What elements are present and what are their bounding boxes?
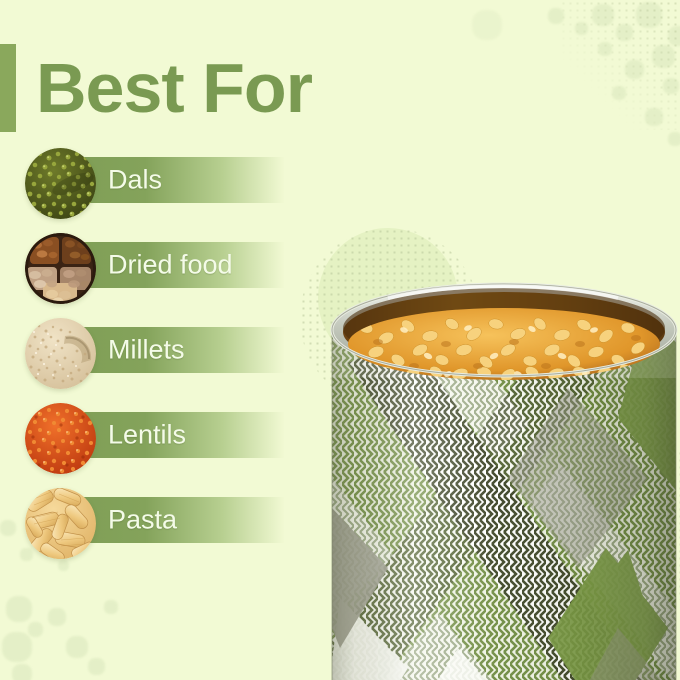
list-item[interactable]: Millets <box>0 315 330 400</box>
millets-icon <box>25 318 96 389</box>
list-item-label: Millets <box>108 335 185 366</box>
soft-blob <box>48 608 66 626</box>
soft-blob <box>6 596 32 622</box>
soft-blob <box>592 4 614 26</box>
lentils-icon <box>25 403 96 474</box>
soft-blob <box>104 600 118 614</box>
soft-blob <box>548 8 564 24</box>
list-item-label: Pasta <box>108 505 177 536</box>
list-item[interactable]: Dried food <box>0 230 330 315</box>
soft-blob <box>625 60 644 79</box>
soft-blob <box>668 26 680 46</box>
soft-blob <box>575 22 588 35</box>
soft-blob <box>663 78 679 94</box>
soft-blob <box>66 636 88 658</box>
soft-blob <box>2 632 32 662</box>
soft-blob <box>612 86 626 100</box>
soft-blob <box>636 2 662 28</box>
best-for-poster: Best For Dals <box>0 0 680 680</box>
list-item-label: Lentils <box>108 420 186 451</box>
soft-blob <box>645 108 663 126</box>
soft-blob <box>28 622 43 637</box>
dried-food-icon <box>25 233 96 304</box>
list-item[interactable]: Pasta <box>0 485 330 570</box>
dals-icon <box>25 148 96 219</box>
soft-blob <box>616 24 633 41</box>
halftone-corner <box>560 0 680 130</box>
page-title: Best For <box>0 44 312 132</box>
soft-blob <box>472 10 502 40</box>
soft-blob <box>12 664 32 680</box>
plaid-storage-jar <box>318 268 680 680</box>
list-item[interactable]: Dals <box>0 145 330 230</box>
soft-blob <box>668 132 680 146</box>
list-item[interactable]: Lentils <box>0 400 330 485</box>
list-item-label: Dried food <box>108 250 233 281</box>
title-accent-bar <box>0 44 16 132</box>
soft-blob <box>598 42 612 56</box>
best-for-list: Dals <box>0 145 330 570</box>
title-text: Best For <box>36 53 312 123</box>
pasta-icon <box>25 488 96 559</box>
soft-blob <box>652 45 675 68</box>
list-item-label: Dals <box>108 165 162 196</box>
soft-blob <box>88 658 105 675</box>
